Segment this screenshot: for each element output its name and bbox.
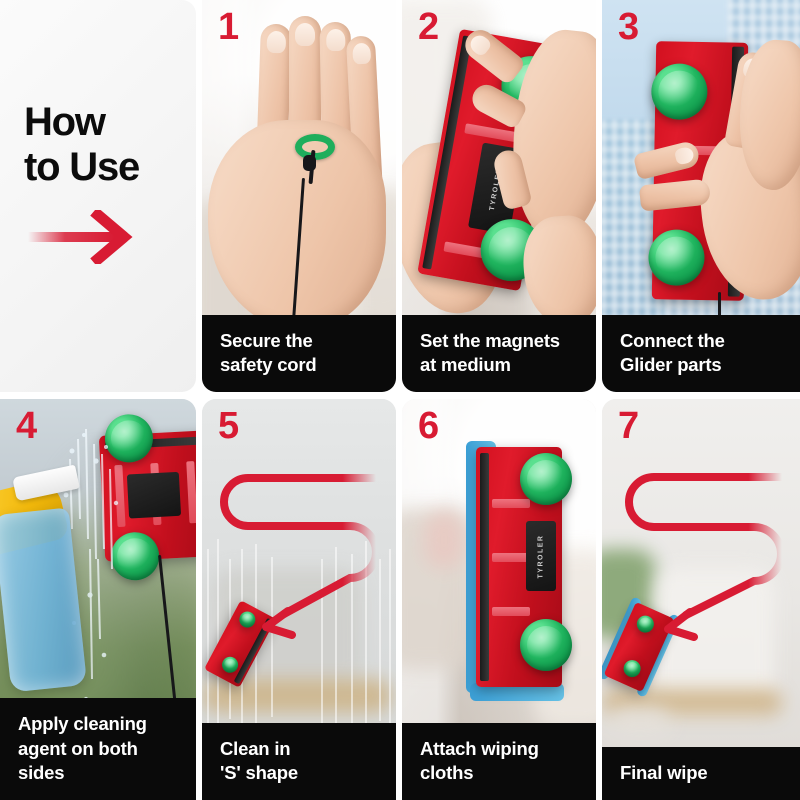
step-caption-7: Final wipe xyxy=(602,747,800,800)
step-tile-3[interactable]: 3 Connect the Glider parts xyxy=(602,0,800,392)
step-caption-5: Clean in 'S' shape xyxy=(202,723,396,800)
step-tile-1[interactable]: 1 Secure the safety cord xyxy=(202,0,396,392)
step-photo-7 xyxy=(602,399,800,800)
s-shape-path-arrow xyxy=(602,399,800,800)
step-caption-1: Secure the safety cord xyxy=(202,315,396,392)
step-number-1: 1 xyxy=(218,8,238,46)
brand-text: TYROLER xyxy=(538,534,545,578)
glider-device: TYROLER xyxy=(476,447,562,687)
step-caption-3: Connect the Glider parts xyxy=(602,315,800,392)
step-number-5: 5 xyxy=(218,407,238,445)
step-caption-2: Set the magnets at medium xyxy=(402,315,596,392)
step-tile-4[interactable]: 4 Apply cleaning agent on both sides xyxy=(0,399,196,800)
step-tile-5[interactable]: 5 Clean in 'S' shape xyxy=(202,399,396,800)
page-title: How to Use xyxy=(24,100,139,190)
step-tile-2[interactable]: TYROLER 2 Set the magnets at medium xyxy=(402,0,596,392)
right-arrow-icon xyxy=(28,210,138,264)
magnet-knob-bottom xyxy=(520,619,572,671)
step-tile-7[interactable]: 7 Final wipe xyxy=(602,399,800,800)
brand-label: TYROLER xyxy=(526,521,556,591)
step-number-2: 2 xyxy=(418,8,438,46)
step-number-4: 4 xyxy=(16,407,36,445)
how-to-use-infographic: How to Use xyxy=(0,0,800,800)
step-caption-6: Attach wiping cloths xyxy=(402,723,596,800)
step-number-6: 6 xyxy=(418,407,438,445)
intro-panel: How to Use xyxy=(0,0,196,392)
step-caption-4: Apply cleaning agent on both sides xyxy=(0,698,196,800)
magnet-knob-top xyxy=(520,453,572,505)
step-tile-6[interactable]: TYROLER 6 Attach wiping cloths xyxy=(402,399,596,800)
step-number-3: 3 xyxy=(618,8,638,46)
step-number-7: 7 xyxy=(618,407,638,445)
